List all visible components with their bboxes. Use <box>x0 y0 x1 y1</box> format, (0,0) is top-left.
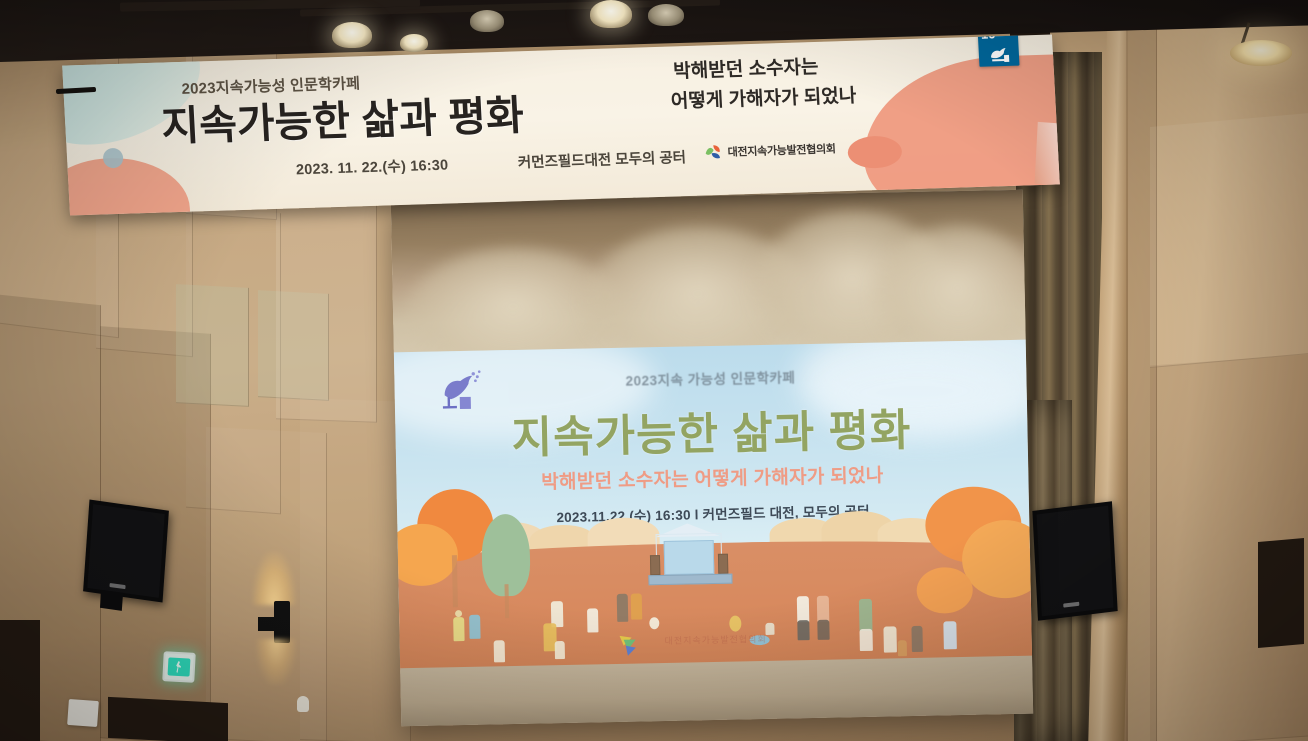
speaker-grille <box>1037 506 1114 617</box>
crowd-figure <box>729 615 741 631</box>
banner-coral-shape-left <box>62 156 192 216</box>
photo-scene: 2023지속 가능성 인문학카페 지속가능한 삶과 평화 박해받던 소수자는 어… <box>0 0 1308 741</box>
stage-screen <box>664 540 715 575</box>
crowd-figure <box>494 640 505 662</box>
stage-spotlight <box>332 22 372 48</box>
organizer-logo: 대전지속가능발전협의회 <box>703 139 836 161</box>
wall-sensor <box>297 696 309 712</box>
crowd-figure <box>817 596 830 622</box>
emergency-exit-sign <box>162 651 196 683</box>
projected-slide: 2023지속 가능성 인문학카페 지속가능한 삶과 평화 박해받던 소수자는 어… <box>394 340 1032 671</box>
banner-curl <box>1035 122 1060 186</box>
sdg-dove-gavel-icon <box>987 46 1012 64</box>
speaker-bracket <box>100 590 123 611</box>
crowd-figure <box>453 617 464 641</box>
wall-outlet-box <box>67 699 99 727</box>
sconce-downlight <box>256 639 296 685</box>
crowd-figure <box>911 626 923 652</box>
rainbow-flag-icon <box>617 631 644 658</box>
screen-surface: 2023지속 가능성 인문학카페 지속가능한 삶과 평화 박해받던 소수자는 어… <box>391 190 1033 727</box>
running-person-icon <box>175 661 183 673</box>
banner-venue: 커먼즈필드대전 모두의 공터 <box>517 146 686 172</box>
crowd-figure <box>469 615 480 639</box>
exit-sign-glow <box>168 657 191 677</box>
wall-recess <box>108 697 228 741</box>
stage-spotlight <box>590 0 632 28</box>
crowd-figure <box>587 608 598 632</box>
sconce-uplight <box>252 551 296 605</box>
sconce-body <box>274 601 290 643</box>
organizer-name: 대전지속가능발전협의회 <box>727 140 836 159</box>
stage-platform <box>648 574 732 586</box>
banner-title: 지속가능한 삶과 평화 <box>160 81 525 152</box>
tree-trunk <box>504 584 509 618</box>
stage-spotlight <box>470 10 504 32</box>
stage-speaker <box>650 555 660 575</box>
slide-title: 지속가능한 삶과 평화 <box>395 392 1028 469</box>
crowd-figure <box>859 599 873 631</box>
wall-panel <box>176 284 249 407</box>
crowd-figure <box>797 596 810 622</box>
event-banner: 2023지속가능성 인문학카페 지속가능한 삶과 평화 박해받던 소수자는 어떻… <box>62 35 1060 216</box>
crowd-figure <box>555 641 565 659</box>
sconce-arm <box>258 617 274 631</box>
crowd-figure <box>649 617 659 629</box>
wall-panel <box>300 398 411 741</box>
stage-speaker <box>718 554 728 574</box>
crowd-figure <box>617 594 629 622</box>
wall-vent <box>1258 538 1304 648</box>
left-wall-speaker <box>83 500 169 603</box>
tree-trunk <box>452 555 458 607</box>
banner-date: 2023. 11. 22.(수) 16:30 <box>295 154 448 180</box>
crowd-figure <box>943 621 957 649</box>
crowd-figure <box>631 593 643 619</box>
projection-screen: 2023지속 가능성 인문학카페 지속가능한 삶과 평화 박해받던 소수자는 어… <box>391 190 1033 727</box>
stage-spotlight <box>400 34 428 52</box>
crowd-figure <box>765 623 774 635</box>
banner-subline-2: 어떻게 가해자가 되었나 <box>670 81 857 114</box>
crowd-figure <box>797 620 809 640</box>
banner-subline-1: 박해받던 소수자는 <box>673 52 819 84</box>
crowd-figure <box>898 640 907 656</box>
right-wall-speaker <box>1032 501 1117 621</box>
wall-recess <box>0 620 40 741</box>
screen-unlit-area <box>391 190 1026 355</box>
stage-spotlight <box>648 4 684 26</box>
crowd-figure <box>883 626 897 652</box>
wall-sconce <box>258 595 290 651</box>
slide-watermark: 대전지속가능발전협의회 <box>664 632 766 647</box>
sdg-16-logo: 16 평화·정의·포용적인 제도 구축 <box>977 35 1019 67</box>
crowd-figure <box>859 629 872 651</box>
crowd-figure <box>817 620 829 640</box>
organizer-mark-icon <box>703 143 724 162</box>
wall-panel <box>1150 113 1308 368</box>
speaker-grille <box>87 504 164 598</box>
ceiling-lamp <box>1230 40 1292 66</box>
